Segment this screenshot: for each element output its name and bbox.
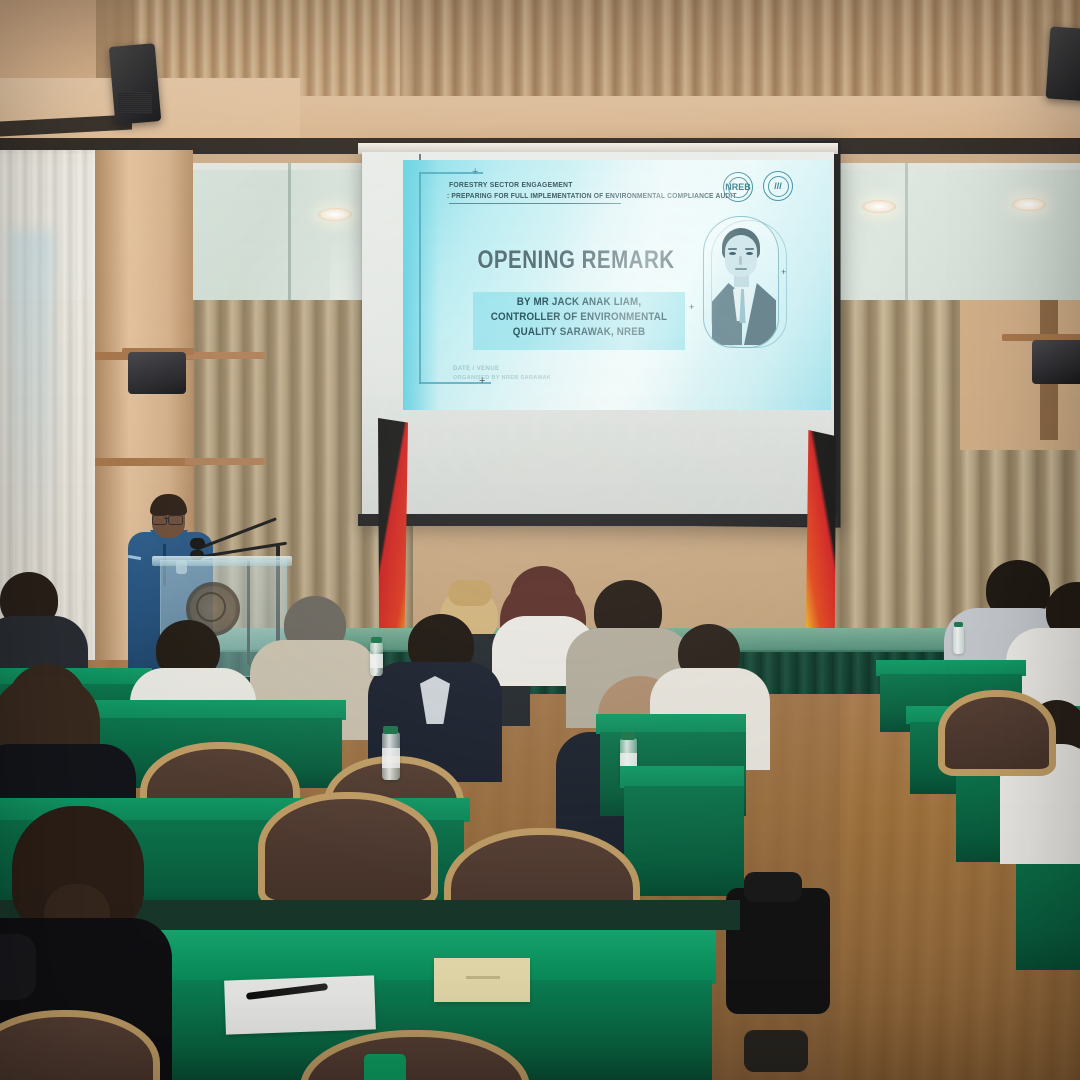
pillar-trim (95, 458, 193, 466)
bottle-cap (954, 622, 963, 627)
presenter-eyeglasses (168, 515, 183, 525)
projected-slide: + + + + FORESTRY SECTOR ENGAGEMENT : PRE… (403, 160, 831, 410)
yellow-card (434, 958, 530, 1002)
window-glow (8, 230, 54, 550)
backpack-handle (744, 872, 802, 902)
bottle-cap (383, 726, 398, 734)
banquet-chair (938, 690, 1056, 776)
sarawak-flag-right (806, 430, 836, 635)
bottle-cap (371, 637, 382, 643)
microphone-head-icon (190, 538, 205, 549)
bottle-label (382, 748, 400, 768)
glass-seam (905, 163, 908, 313)
screen-weight-bar (358, 514, 838, 526)
wall-speaker-icon (128, 352, 186, 394)
backpack (726, 888, 830, 1014)
projector-sheen (403, 160, 831, 410)
podium-crest-inner (196, 592, 226, 622)
water-bottle (953, 626, 964, 654)
bottle-cap (621, 732, 635, 740)
presenter-eyeglasses-bridge (164, 518, 169, 519)
conference-hall-photo: + + + + FORESTRY SECTOR ENGAGEMENT : PRE… (0, 0, 1080, 1080)
banner-flag-left (378, 418, 408, 648)
wall-speaker-icon (1046, 26, 1080, 101)
bottle-label (370, 654, 383, 668)
chair-cushion-tie (364, 1054, 406, 1080)
presenter-eyeglasses (152, 515, 167, 525)
downlight (318, 208, 352, 221)
table-skirt (624, 786, 744, 896)
table-top (620, 766, 744, 788)
pillar-trim (185, 458, 265, 465)
podium-top-ledge (152, 556, 292, 566)
downlight (1012, 198, 1046, 211)
speaker-grill (118, 92, 152, 114)
downlight (862, 200, 896, 213)
wall-speaker-icon (1032, 340, 1080, 384)
table-top (596, 714, 746, 734)
audience-hair-bun (448, 580, 492, 606)
banquet-chair (258, 792, 438, 908)
glass-seam (288, 163, 291, 313)
foreground-person-shoulder (0, 934, 36, 1000)
pillar-trim (185, 352, 265, 359)
paper-sheet (224, 975, 376, 1034)
yellow-card-text-line (466, 976, 500, 979)
shoe (744, 1030, 808, 1072)
